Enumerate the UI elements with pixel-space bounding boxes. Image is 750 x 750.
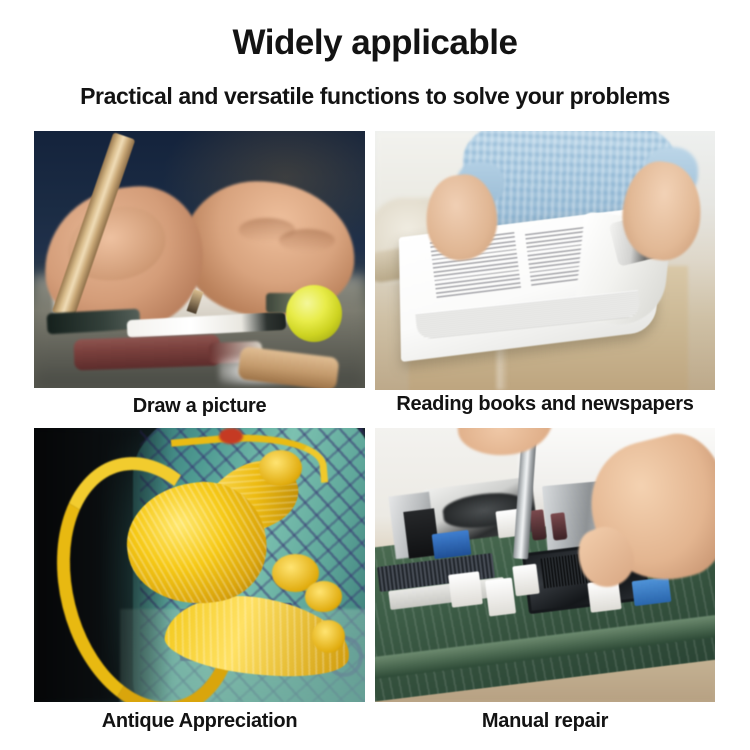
feature-card-draw-a-picture: Draw a picture: [34, 131, 365, 388]
feature-caption: Reading books and newspapers: [375, 393, 715, 416]
photo-antique-appreciation: [34, 428, 365, 702]
red-accent-dot: [219, 428, 242, 444]
dragon-claw: [305, 581, 341, 611]
feature-caption: Manual repair: [375, 710, 715, 733]
page-subtitle: Practical and versatile functions to sol…: [0, 82, 750, 110]
knuckle-shade: [279, 229, 335, 252]
feature-card-antique-appreciation: Antique Appreciation: [34, 428, 365, 702]
page-title: Widely applicable: [0, 22, 750, 64]
white-connector: [513, 564, 540, 597]
white-connector: [485, 577, 516, 616]
photo-draw-a-picture: [34, 131, 365, 388]
product-infographic: Widely applicable Practical and versatil…: [0, 0, 750, 750]
blue-connector: [632, 577, 672, 606]
dragon-claw: [259, 450, 302, 486]
capacitor: [550, 512, 567, 541]
feature-caption: Antique Appreciation: [34, 710, 365, 733]
maroon-handle-tool: [73, 334, 220, 370]
dragon-claw: [312, 620, 345, 653]
feature-card-manual-repair: Manual repair: [375, 428, 715, 702]
photo-reading-books-and-newspapers: [375, 131, 715, 390]
photo-manual-repair: [375, 428, 715, 702]
blue-connector: [431, 530, 471, 559]
yellow-glass-orb: [286, 285, 342, 342]
feature-card-reading-books-and-newspapers: Reading books and newspapers: [375, 131, 715, 390]
feature-caption: Draw a picture: [34, 395, 365, 418]
white-connector: [448, 571, 482, 607]
